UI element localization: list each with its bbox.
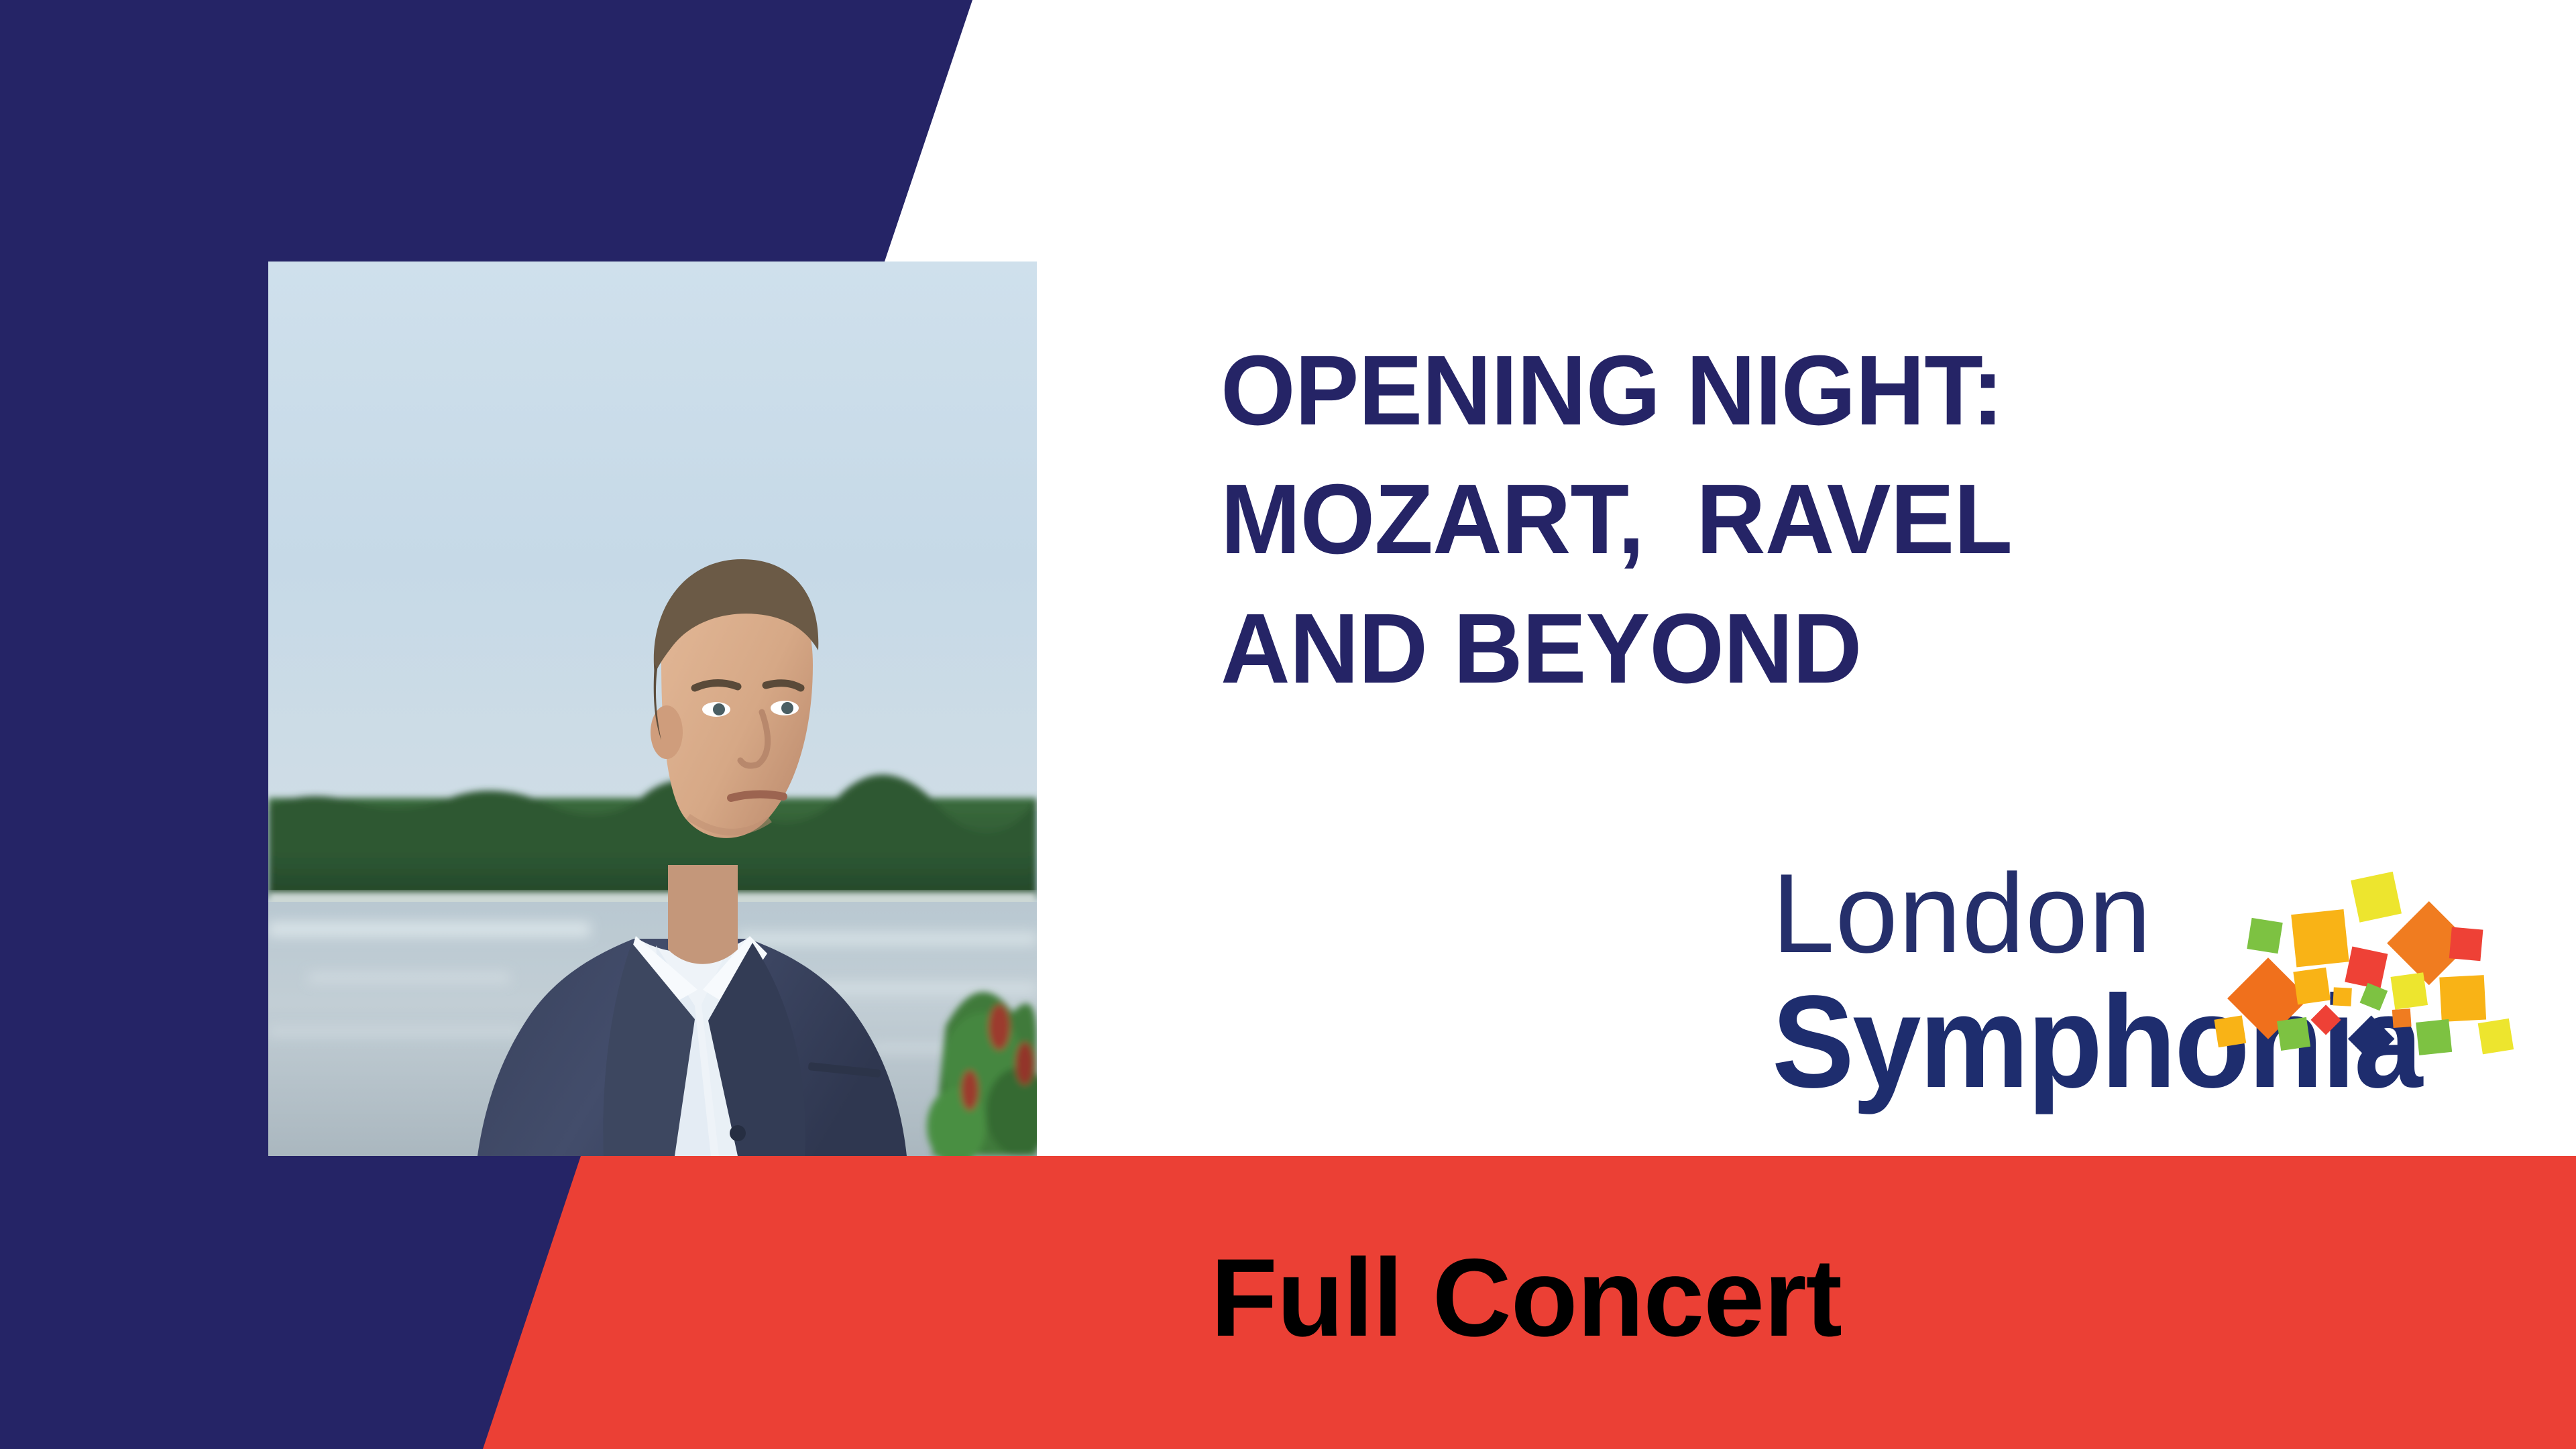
confetti-square: [2310, 1004, 2341, 1035]
title-line-1: OPENING NIGHT:: [1221, 327, 2457, 455]
performer-photo-svg: [268, 262, 1037, 1156]
confetti-mark-icon: [2193, 849, 2523, 1090]
confetti-square: [2390, 972, 2428, 1010]
title-line-3: AND BEYOND: [1221, 585, 2457, 713]
confetti-square: [2392, 1008, 2412, 1028]
london-symphonia-logo: London Symphonia: [1772, 857, 2523, 1139]
confetti-square: [2360, 983, 2388, 1011]
confetti-square: [2293, 968, 2331, 1005]
confetti-square: [2348, 1016, 2395, 1063]
title-line-2: MOZART, RAVEL: [1221, 455, 2457, 584]
logo-wordmark-london: London: [1772, 857, 2152, 970]
confetti-mark-svg: [2193, 849, 2523, 1090]
confetti-square: [2214, 1015, 2246, 1047]
confetti-square: [2247, 918, 2282, 953]
page-title: OPENING NIGHT: MOZART, RAVEL AND BEYOND: [1221, 327, 2495, 713]
confetti-square: [2291, 909, 2349, 968]
performer-photo: [268, 262, 1037, 1156]
slide-canvas: OPENING NIGHT: MOZART, RAVEL AND BEYOND …: [0, 0, 2576, 1449]
confetti-square: [2333, 987, 2351, 1006]
confetti-square: [2439, 975, 2486, 1022]
confetti-square: [2449, 927, 2483, 962]
caption-full-concert: Full Concert: [1211, 1232, 1842, 1363]
confetti-square: [2478, 1019, 2514, 1054]
confetti-square: [2351, 872, 2402, 923]
confetti-square: [2277, 1017, 2310, 1051]
confetti-square: [2416, 1019, 2452, 1055]
confetti-square: [2345, 946, 2388, 989]
